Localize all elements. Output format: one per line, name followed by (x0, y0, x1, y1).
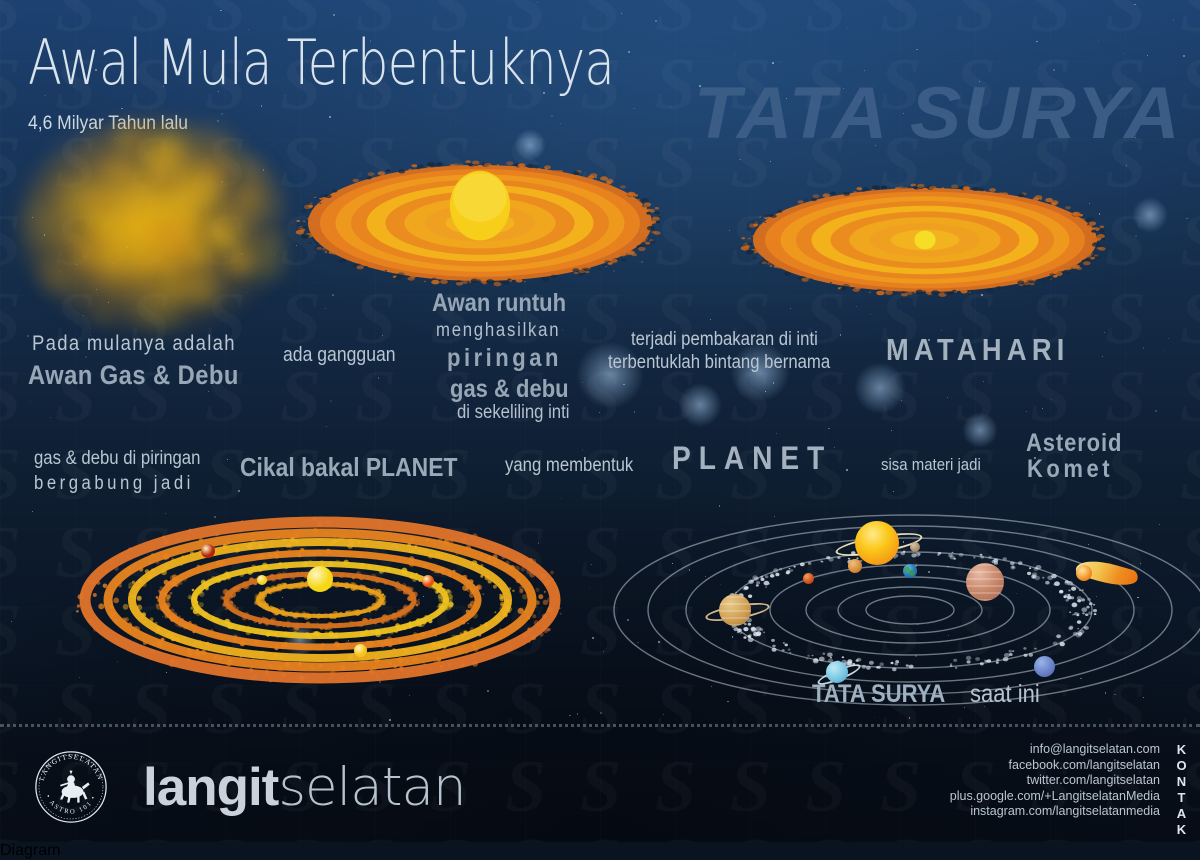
cloud-caption-line2: Awan Gas & Debu (28, 360, 268, 391)
debris-label-asteroid: Asteroid (1026, 429, 1135, 458)
brand-light: selatan (278, 757, 465, 818)
proto-body-planetesimal-red (201, 544, 215, 558)
collapse-caption-line5: di sekeliling inti (457, 402, 585, 424)
subtitle-age: 4,6 Milyar Tahun lalu (28, 113, 188, 135)
proto-body-planetesimal-yellow (354, 644, 367, 657)
protoplanetary-disc (55, 492, 585, 708)
brand-wordmark[interactable]: langitselatan (143, 757, 466, 818)
collapse-caption-line4: gas & debu (450, 375, 585, 404)
page-title: Awal Mula Terbentuknya (28, 26, 614, 99)
forming-caption: yang membentuk (505, 455, 651, 477)
collapse-caption-line2: menghasilkan (436, 320, 577, 342)
leftover-caption: sisa materi jadi (881, 455, 994, 475)
poster-canvas: SSSSSSSSSSSSSSSSSSSSSSSSSSSSSSSSSSSSSSSS… (0, 0, 1200, 842)
collapse-caption-line3: piringan (447, 344, 578, 373)
protostar-disc-ignition (739, 154, 1111, 310)
planet-label: PLANET (672, 440, 854, 477)
sun-label: MATAHARI (886, 332, 1095, 368)
proto-body-planetesimal-inner (257, 575, 267, 585)
brand-bold: langit (143, 758, 278, 817)
merge-caption-line1: gas & debu di piringan (34, 448, 223, 470)
debris-label-komet: Komet (1027, 455, 1125, 484)
contact-instagram[interactable]: instagram.com/langitselatanmedia (950, 804, 1160, 820)
fusion-caption-line1: terjadi pembakaran di inti (631, 329, 843, 351)
comet-nucleus (1076, 565, 1092, 581)
cloud-caption-line1: Pada mulanya adalah (32, 332, 264, 356)
planet-venus (848, 559, 862, 573)
kontak-label: KONTAK (1175, 742, 1188, 838)
page-title-highlight: TATA SURYA (694, 72, 1182, 155)
earth-landmass (903, 564, 917, 578)
proto-body-central-protosun (307, 566, 333, 592)
planet-mercury (910, 542, 920, 552)
fusion-caption-line2: terbentuklah bintang bernama (608, 352, 860, 374)
footer-divider (0, 724, 1200, 727)
contact-facebook[interactable]: facebook.com/langitselatan (950, 758, 1160, 774)
bands-saturn (719, 594, 751, 626)
contact-googleplus[interactable]: plus.google.com/+LangitselatanMedia (950, 789, 1160, 805)
contact-email[interactable]: info@langitselatan.com (950, 742, 1160, 758)
solar-system-label: TATA SURYA saat ini (812, 680, 1050, 709)
langitselatan-logo-seal[interactable]: LANGITSELATAN• ASTRO 101 • (32, 748, 110, 826)
protostar-disc-collapse (294, 131, 666, 299)
contact-twitter[interactable]: twitter.com/langitselatan (950, 773, 1160, 789)
planet-neptune (1034, 656, 1055, 677)
bands-jupiter (966, 563, 1004, 601)
disturbance-caption: ada gangguan (283, 344, 411, 367)
contact-list: info@langitselatan.com facebook.com/lang… (950, 742, 1160, 820)
protoplanet-label: Cikal bakal PLANET (240, 452, 487, 483)
planet-mars (803, 573, 814, 584)
collapse-caption-line1: Awan runtuh (432, 289, 584, 318)
planet-sun (855, 521, 899, 565)
proto-body-planetesimal-orange (422, 575, 434, 587)
